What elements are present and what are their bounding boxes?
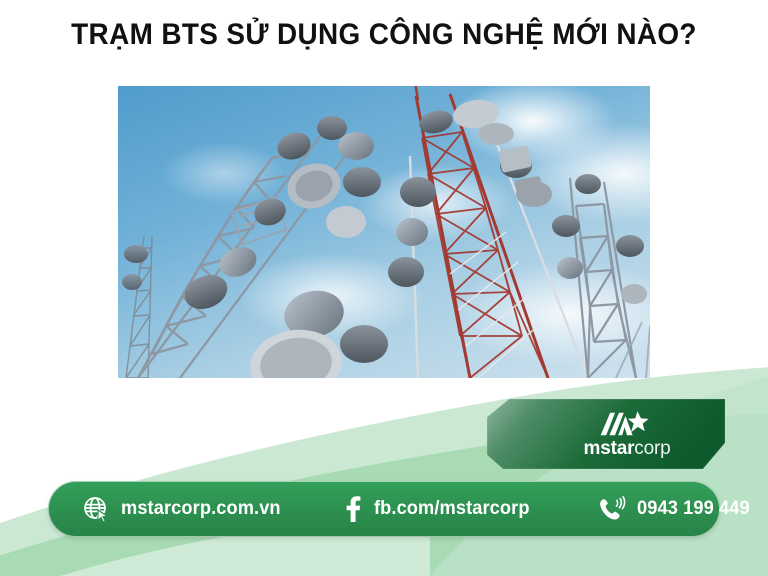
contact-bar: mstarcorp.com.vn fb.com/mstarcorp 0943 1… bbox=[48, 481, 720, 537]
phone-label: 0943 199 449 bbox=[637, 498, 750, 520]
mstarcorp-star-icon bbox=[599, 411, 655, 437]
hero-photo bbox=[118, 86, 650, 378]
poster-canvas: TRẠM BTS SỬ DỤNG CÔNG NGHỆ MỚI NÀO? bbox=[0, 0, 768, 576]
facebook-icon bbox=[341, 495, 363, 523]
facebook-label: fb.com/mstarcorp bbox=[374, 498, 530, 520]
logo-wordmark: mstarcorp bbox=[584, 439, 671, 458]
globe-cursor-icon bbox=[82, 495, 110, 523]
brand-logo-banner: mstarcorp bbox=[487, 399, 725, 469]
logo-word-light: corp bbox=[634, 438, 670, 459]
contact-phone[interactable]: 0943 199 449 bbox=[596, 495, 754, 523]
page-title: TRẠM BTS SỬ DỤNG CÔNG NGHỆ MỚI NÀO? bbox=[27, 18, 741, 52]
contact-facebook[interactable]: fb.com/mstarcorp bbox=[341, 495, 536, 523]
website-label: mstarcorp.com.vn bbox=[121, 498, 281, 520]
contact-website[interactable]: mstarcorp.com.vn bbox=[82, 495, 287, 523]
bts-towers-illustration bbox=[118, 86, 650, 378]
logo-word-bold: mstar bbox=[584, 438, 635, 459]
phone-ring-icon bbox=[596, 495, 626, 523]
